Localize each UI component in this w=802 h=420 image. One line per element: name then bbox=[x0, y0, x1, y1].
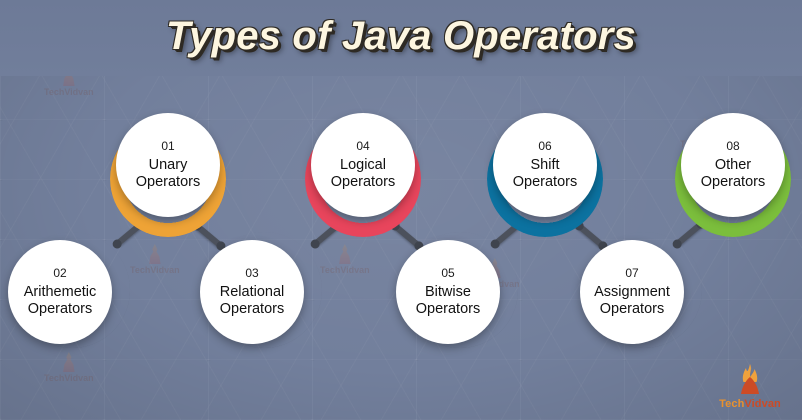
node-06-number: 06 bbox=[538, 140, 551, 152]
node-08-label: OtherOperators bbox=[695, 157, 771, 191]
node-02-label: ArithemeticOperators bbox=[18, 284, 103, 318]
node-05-disc[interactable]: 05 BitwiseOperators bbox=[396, 240, 500, 344]
node-08[interactable]: 08 OtherOperators bbox=[675, 113, 791, 229]
node-07-number: 07 bbox=[625, 267, 638, 279]
node-02-disc[interactable]: 02 ArithemeticOperators bbox=[8, 240, 112, 344]
node-07-label: AssignmentOperators bbox=[588, 284, 676, 318]
node-03[interactable]: 03 RelationalOperators bbox=[200, 232, 316, 348]
node-03-label: RelationalOperators bbox=[214, 284, 291, 318]
node-04-label: LogicalOperators bbox=[325, 157, 401, 191]
node-04-number: 04 bbox=[356, 140, 369, 152]
brand-name: TechVidvan bbox=[712, 398, 788, 410]
node-01-number: 01 bbox=[161, 140, 174, 152]
node-02[interactable]: 02 ArithemeticOperators bbox=[8, 232, 124, 348]
brand-logo[interactable]: TechVidvan bbox=[712, 363, 788, 410]
node-06-label: ShiftOperators bbox=[507, 157, 583, 191]
node-07-disc[interactable]: 07 AssignmentOperators bbox=[580, 240, 684, 344]
node-05[interactable]: 05 BitwiseOperators bbox=[396, 232, 512, 348]
node-01-disc[interactable]: 01 UnaryOperators bbox=[116, 113, 220, 217]
node-03-disc[interactable]: 03 RelationalOperators bbox=[200, 240, 304, 344]
node-04-disc[interactable]: 04 LogicalOperators bbox=[311, 113, 415, 217]
node-05-label: BitwiseOperators bbox=[410, 284, 486, 318]
node-01-label: UnaryOperators bbox=[130, 157, 206, 191]
node-01[interactable]: 01 UnaryOperators bbox=[110, 113, 226, 229]
node-05-number: 05 bbox=[441, 267, 454, 279]
node-07[interactable]: 07 AssignmentOperators bbox=[580, 232, 696, 348]
techvidvan-flame-icon bbox=[737, 363, 763, 395]
node-02-number: 02 bbox=[53, 267, 66, 279]
node-04[interactable]: 04 LogicalOperators bbox=[305, 113, 421, 229]
infographic-canvas: TechVidvan TechVidvan TechVidvan TechVid… bbox=[0, 0, 802, 420]
node-06[interactable]: 06 ShiftOperators bbox=[487, 113, 603, 229]
node-08-number: 08 bbox=[726, 140, 739, 152]
node-06-disc[interactable]: 06 ShiftOperators bbox=[493, 113, 597, 217]
node-03-number: 03 bbox=[245, 267, 258, 279]
node-08-disc[interactable]: 08 OtherOperators bbox=[681, 113, 785, 217]
page-title: Types of Java Operators bbox=[0, 14, 802, 59]
